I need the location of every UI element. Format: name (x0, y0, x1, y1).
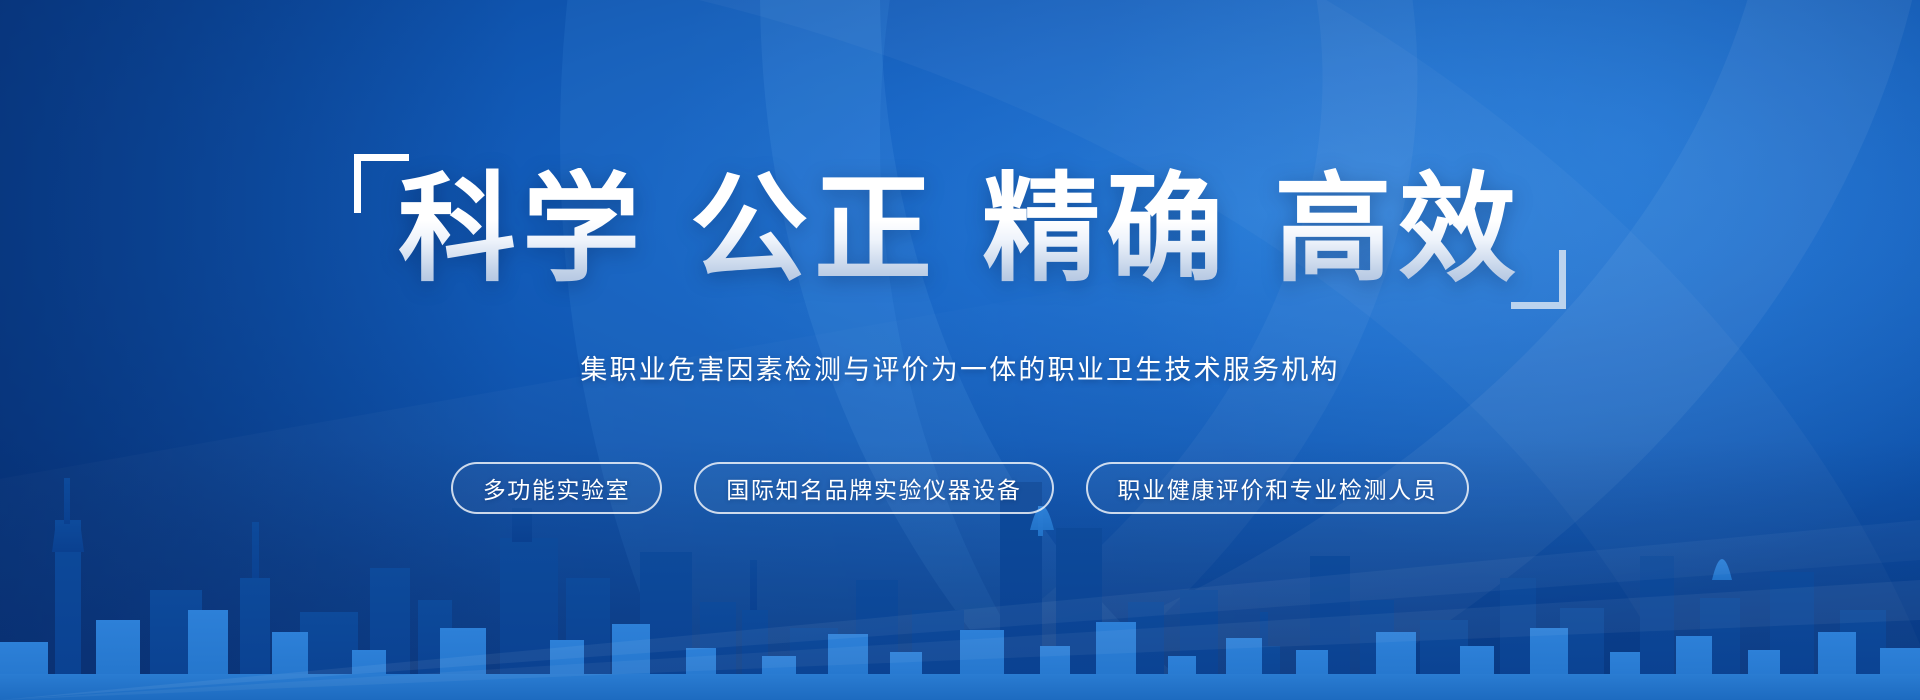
hero-banner: 科学公正精确高效 集职业危害因素检测与评价为一体的职业卫生技术服务机构 多功能实… (0, 0, 1920, 700)
headline-bracket-box: 科学公正精确高效 (352, 168, 1568, 293)
feature-pill-lab[interactable]: 多功能实验室 (451, 462, 663, 514)
headline-word-2: 公正 (690, 164, 938, 296)
headline-container: 科学公正精确高效 (0, 168, 1920, 293)
headline-word-3: 精确 (982, 164, 1230, 296)
page-title: 科学公正精确高效 (398, 168, 1522, 293)
headline-word-1: 科学 (398, 164, 646, 296)
headline-word-4: 高效 (1274, 164, 1522, 296)
feature-pill-group: 多功能实验室 国际知名品牌实验仪器设备 职业健康评价和专业检测人员 (0, 462, 1920, 514)
feature-pill-staff[interactable]: 职业健康评价和专业检测人员 (1086, 462, 1470, 514)
banner-subtitle: 集职业危害因素检测与评价为一体的职业卫生技术服务机构 (0, 348, 1920, 387)
banner-content: 科学公正精确高效 集职业危害因素检测与评价为一体的职业卫生技术服务机构 多功能实… (0, 0, 1920, 700)
feature-pill-equipment[interactable]: 国际知名品牌实验仪器设备 (694, 462, 1053, 514)
